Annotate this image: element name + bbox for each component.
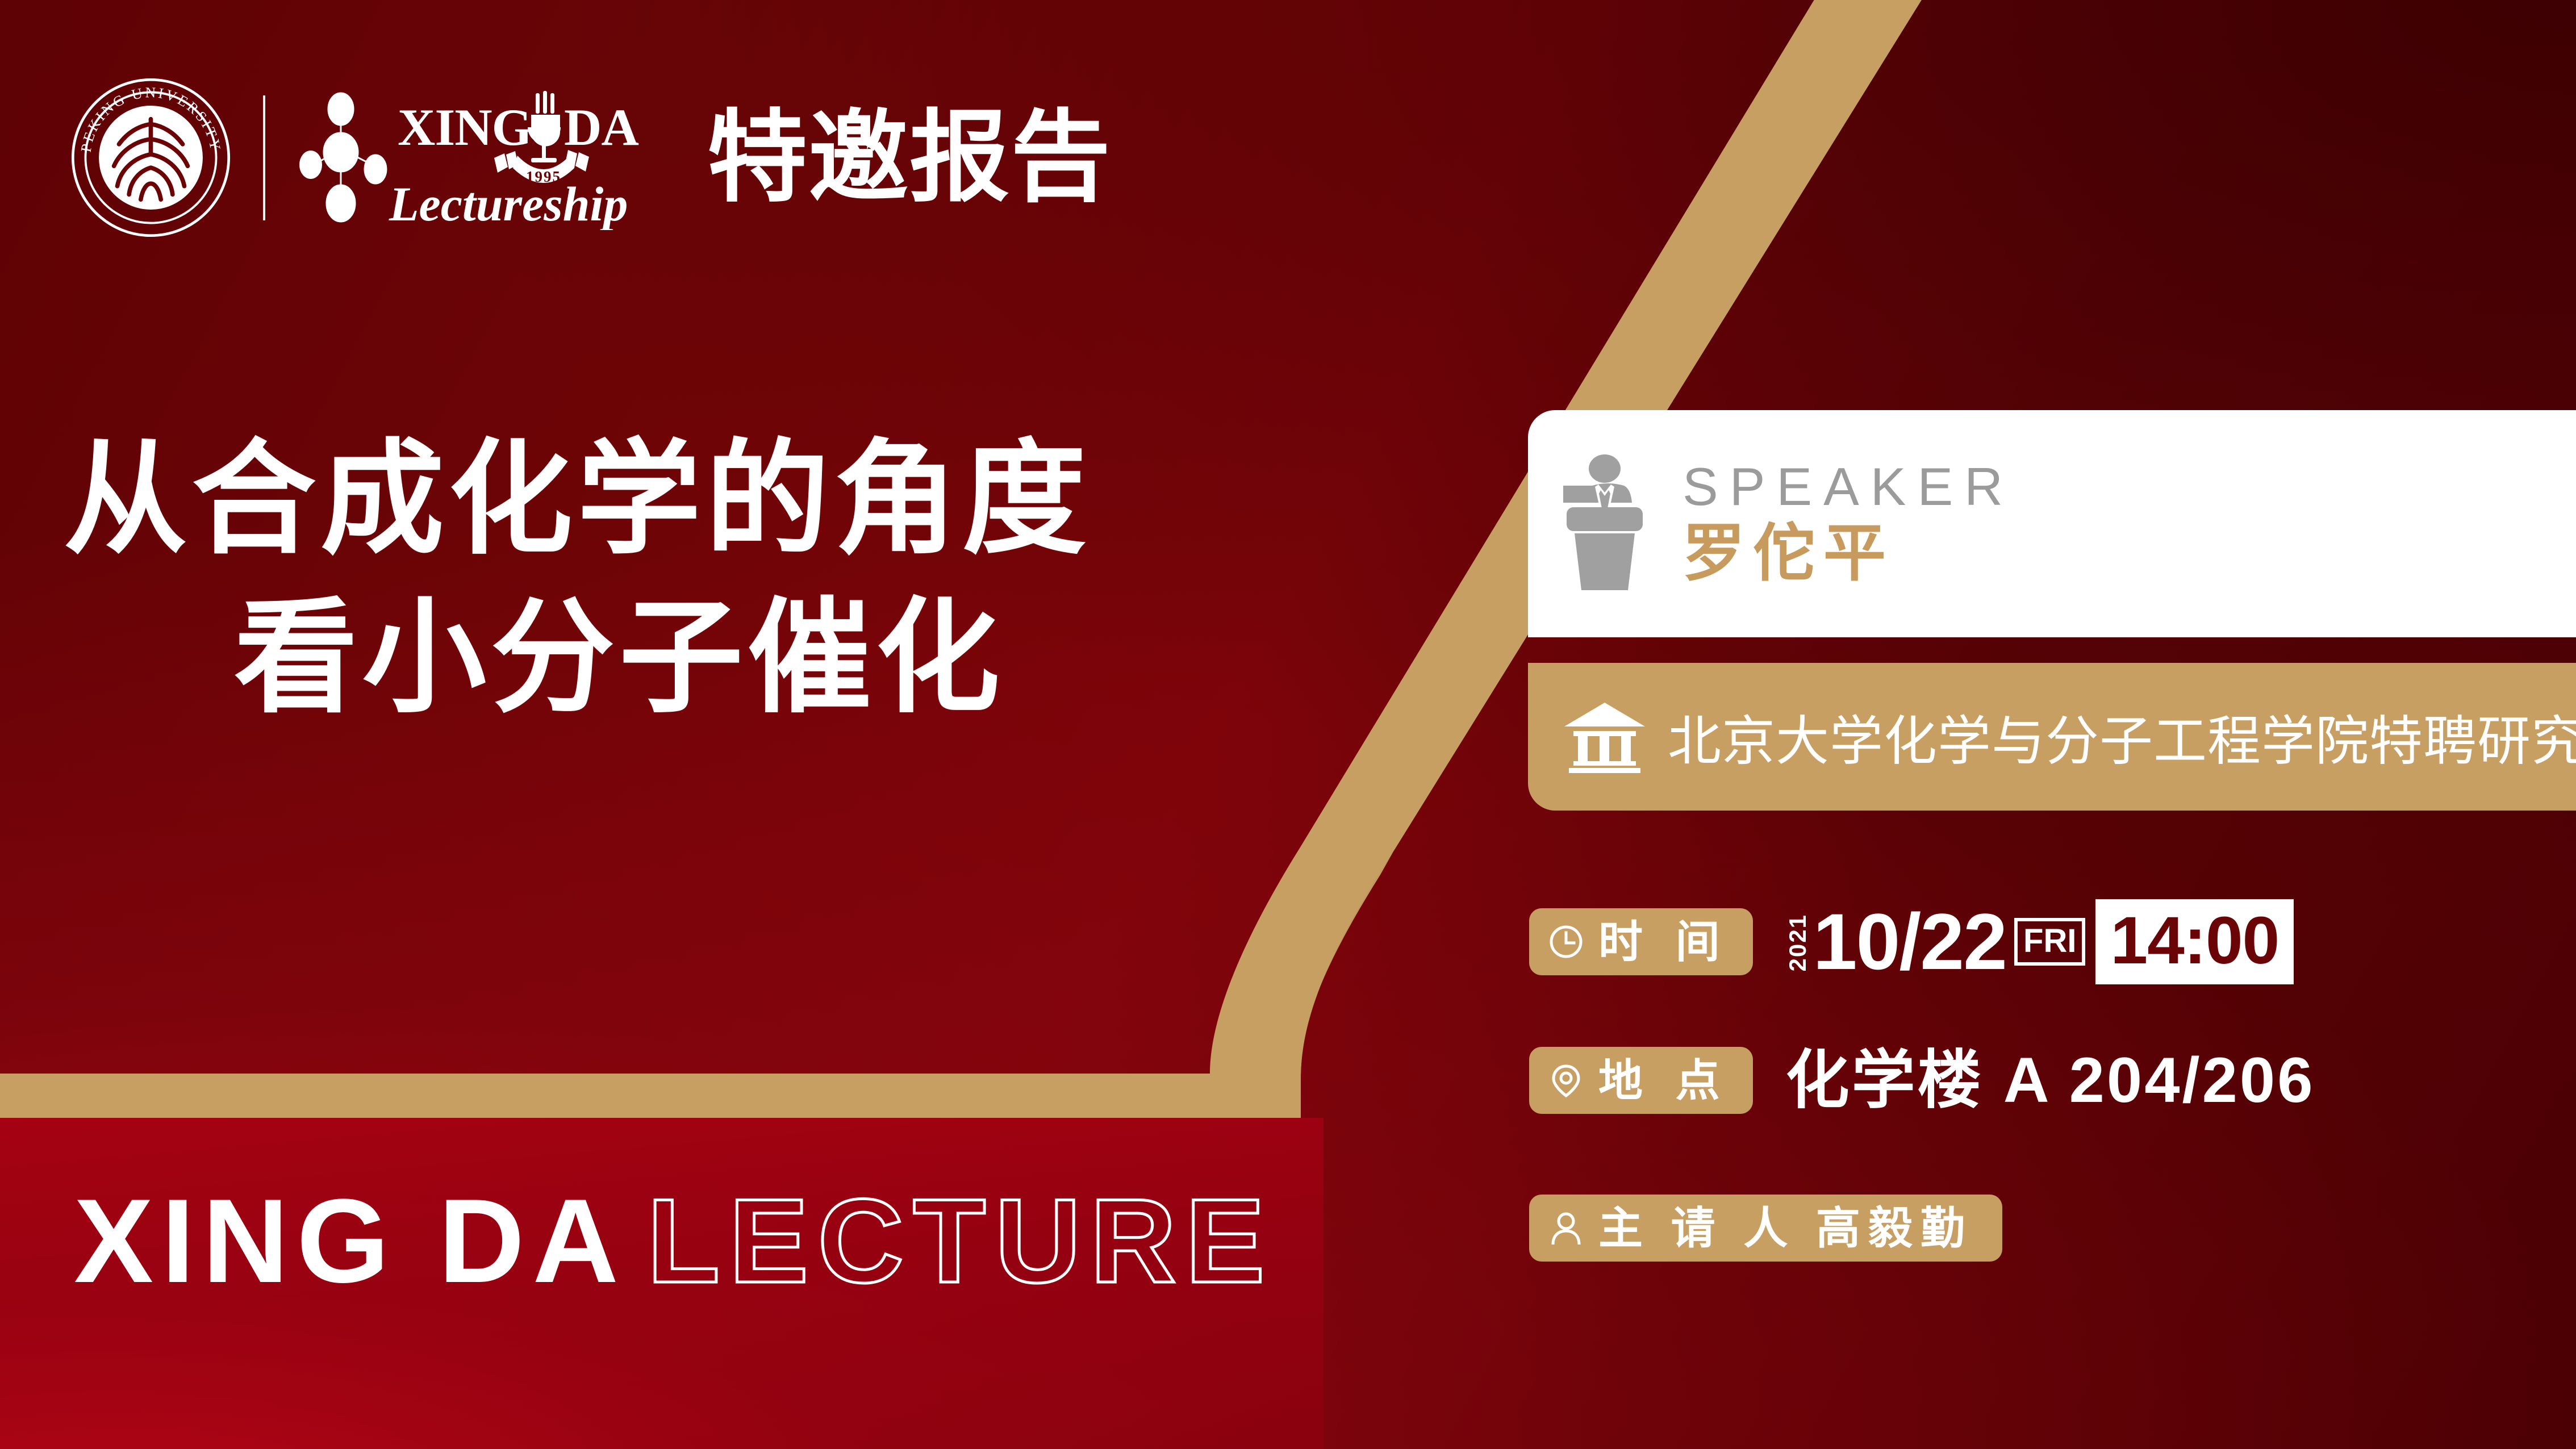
peking-university-seal-icon: PEKING UNIVERSITY 1 8 9 8	[67, 74, 235, 241]
speaker-label: SPEAKER	[1682, 457, 2014, 516]
clock-icon	[1548, 924, 1584, 959]
wordmark-solid: XING DA	[74, 1181, 627, 1301]
event-weekday: FRI	[2014, 918, 2085, 966]
svg-text:DA: DA	[564, 98, 638, 156]
lecture-title: 从合成化学的角度 看小分子催化	[64, 420, 1091, 737]
poster-header: PEKING UNIVERSITY 1 8 9 8	[67, 74, 1112, 241]
svg-text:Lectureship: Lectureship	[389, 177, 628, 230]
event-year: 2021	[1786, 912, 1810, 971]
speaker-name: 罗佗平	[1682, 518, 2014, 590]
title-line-1: 从合成化学的角度	[64, 431, 1091, 569]
event-month-day: 10/22	[1813, 902, 2006, 982]
podium-speaker-icon	[1563, 453, 1646, 595]
time-pill-label: 时 间	[1598, 920, 1730, 964]
time-pill: 时 间	[1529, 908, 1753, 975]
place-pill-label: 地 点	[1598, 1058, 1730, 1103]
person-icon	[1548, 1210, 1584, 1246]
affiliation-bar: 北京大学化学与分子工程学院特聘研究员	[1528, 663, 2576, 811]
header-divider	[263, 95, 265, 220]
time-row: 时 间 2021 10/22 FRI 14:00	[1529, 899, 2294, 984]
speaker-text-block: SPEAKER 罗佗平	[1682, 457, 2014, 590]
host-row: 主 请 人 高毅勤	[1529, 1195, 2002, 1262]
footer-wordmark: XING DA LECTURE	[74, 1181, 1274, 1301]
xingda-lectureship-logo: XING DA 1995	[298, 85, 673, 230]
location-pin-icon	[1548, 1063, 1584, 1098]
bank-building-icon	[1562, 699, 1647, 774]
speaker-card: SPEAKER 罗佗平	[1528, 410, 2576, 637]
title-line-2: 看小分子催化	[234, 579, 1091, 737]
wordmark-outline: LECTURE	[647, 1181, 1274, 1301]
svg-text:XING: XING	[398, 98, 532, 156]
place-row: 地 点 化学楼 A 204/206	[1529, 1047, 2315, 1114]
place-pill: 地 点	[1529, 1047, 1753, 1114]
event-clock-time: 14:00	[2095, 899, 2294, 984]
host-pill: 主 请 人 高毅勤	[1529, 1195, 2002, 1262]
host-pill-label: 主 请 人 高毅勤	[1598, 1206, 1973, 1250]
lecture-poster: PEKING UNIVERSITY 1 8 9 8	[0, 0, 2576, 1449]
time-value-group: 2021 10/22 FRI 14:00	[1786, 899, 2294, 984]
header-chinese-label: 特邀报告	[707, 108, 1112, 208]
place-value: 化学楼 A 204/206	[1786, 1049, 2315, 1112]
speaker-affiliation: 北京大学化学与分子工程学院特聘研究员	[1668, 698, 2576, 775]
